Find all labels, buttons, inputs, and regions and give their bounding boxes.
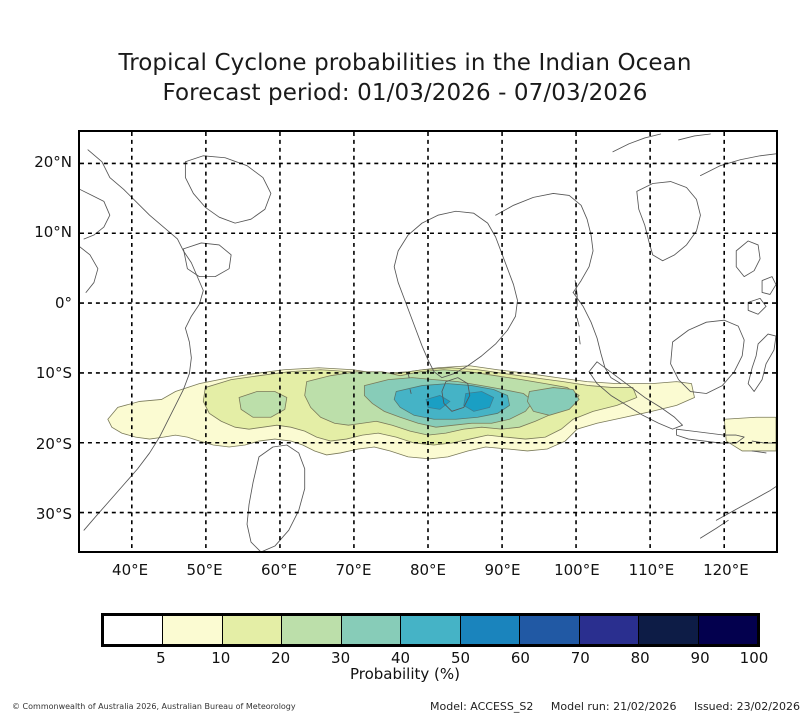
x-axis-tick-labels: 40°E 50°E 60°E 70°E 80°E 90°E 100°E 110°… (78, 561, 778, 583)
colorbar-segment-4 (342, 616, 401, 644)
x-tick-120E: 120°E (686, 561, 766, 579)
x-tick-70E: 70°E (314, 561, 394, 579)
y-tick-30S: 30°S (10, 505, 72, 523)
model-run: Model run: 21/02/2026 (551, 700, 677, 713)
issued-date: Issued: 23/02/2026 (694, 700, 800, 713)
colorbar-segment-9 (639, 616, 698, 644)
title-line-2: Forecast period: 01/03/2026 - 07/03/2026 (0, 78, 810, 108)
x-tick-50E: 50°E (165, 561, 245, 579)
x-tick-80E: 80°E (388, 561, 468, 579)
model-metadata: Model: ACCESS_S2 Model run: 21/02/2026 I… (430, 700, 800, 713)
graticule (80, 132, 776, 551)
map-svg (80, 132, 776, 551)
y-tick-10N: 10°N (10, 223, 72, 241)
model-name: Model: ACCESS_S2 (430, 700, 533, 713)
x-tick-110E: 110°E (611, 561, 691, 579)
x-tick-100E: 100°E (537, 561, 617, 579)
x-tick-90E: 90°E (463, 561, 543, 579)
colorbar[interactable] (101, 613, 760, 647)
colorbar-segment-3 (282, 616, 341, 644)
probability-contours (108, 366, 776, 459)
colorbar-segment-2 (223, 616, 282, 644)
copyright-notice: © Commonwealth of Australia 2026, Austra… (12, 702, 296, 711)
colorbar-segment-6 (461, 616, 520, 644)
colorbar-segment-1 (163, 616, 222, 644)
x-tick-60E: 60°E (239, 561, 319, 579)
colorbar-segment-5 (401, 616, 460, 644)
y-tick-20N: 20°N (10, 153, 72, 171)
colorbar-segment-10 (699, 616, 757, 644)
map-plot-area[interactable] (78, 130, 778, 553)
y-tick-20S: 20°S (10, 435, 72, 453)
x-tick-40E: 40°E (90, 561, 170, 579)
y-tick-10S: 10°S (10, 364, 72, 382)
chart-title: Tropical Cyclone probabilities in the In… (0, 48, 810, 108)
y-axis-tick-labels: 20°N 10°N 0° 10°S 20°S 30°S (8, 130, 72, 553)
colorbar-segment-8 (580, 616, 639, 644)
y-tick-0: 0° (10, 294, 72, 312)
colorbar-title: Probability (%) (0, 665, 810, 683)
contour-patch-nw-australia-5 (724, 417, 776, 451)
colorbar-segment-7 (520, 616, 579, 644)
title-line-1: Tropical Cyclone probabilities in the In… (0, 48, 810, 78)
colorbar-segment-0 (104, 616, 163, 644)
